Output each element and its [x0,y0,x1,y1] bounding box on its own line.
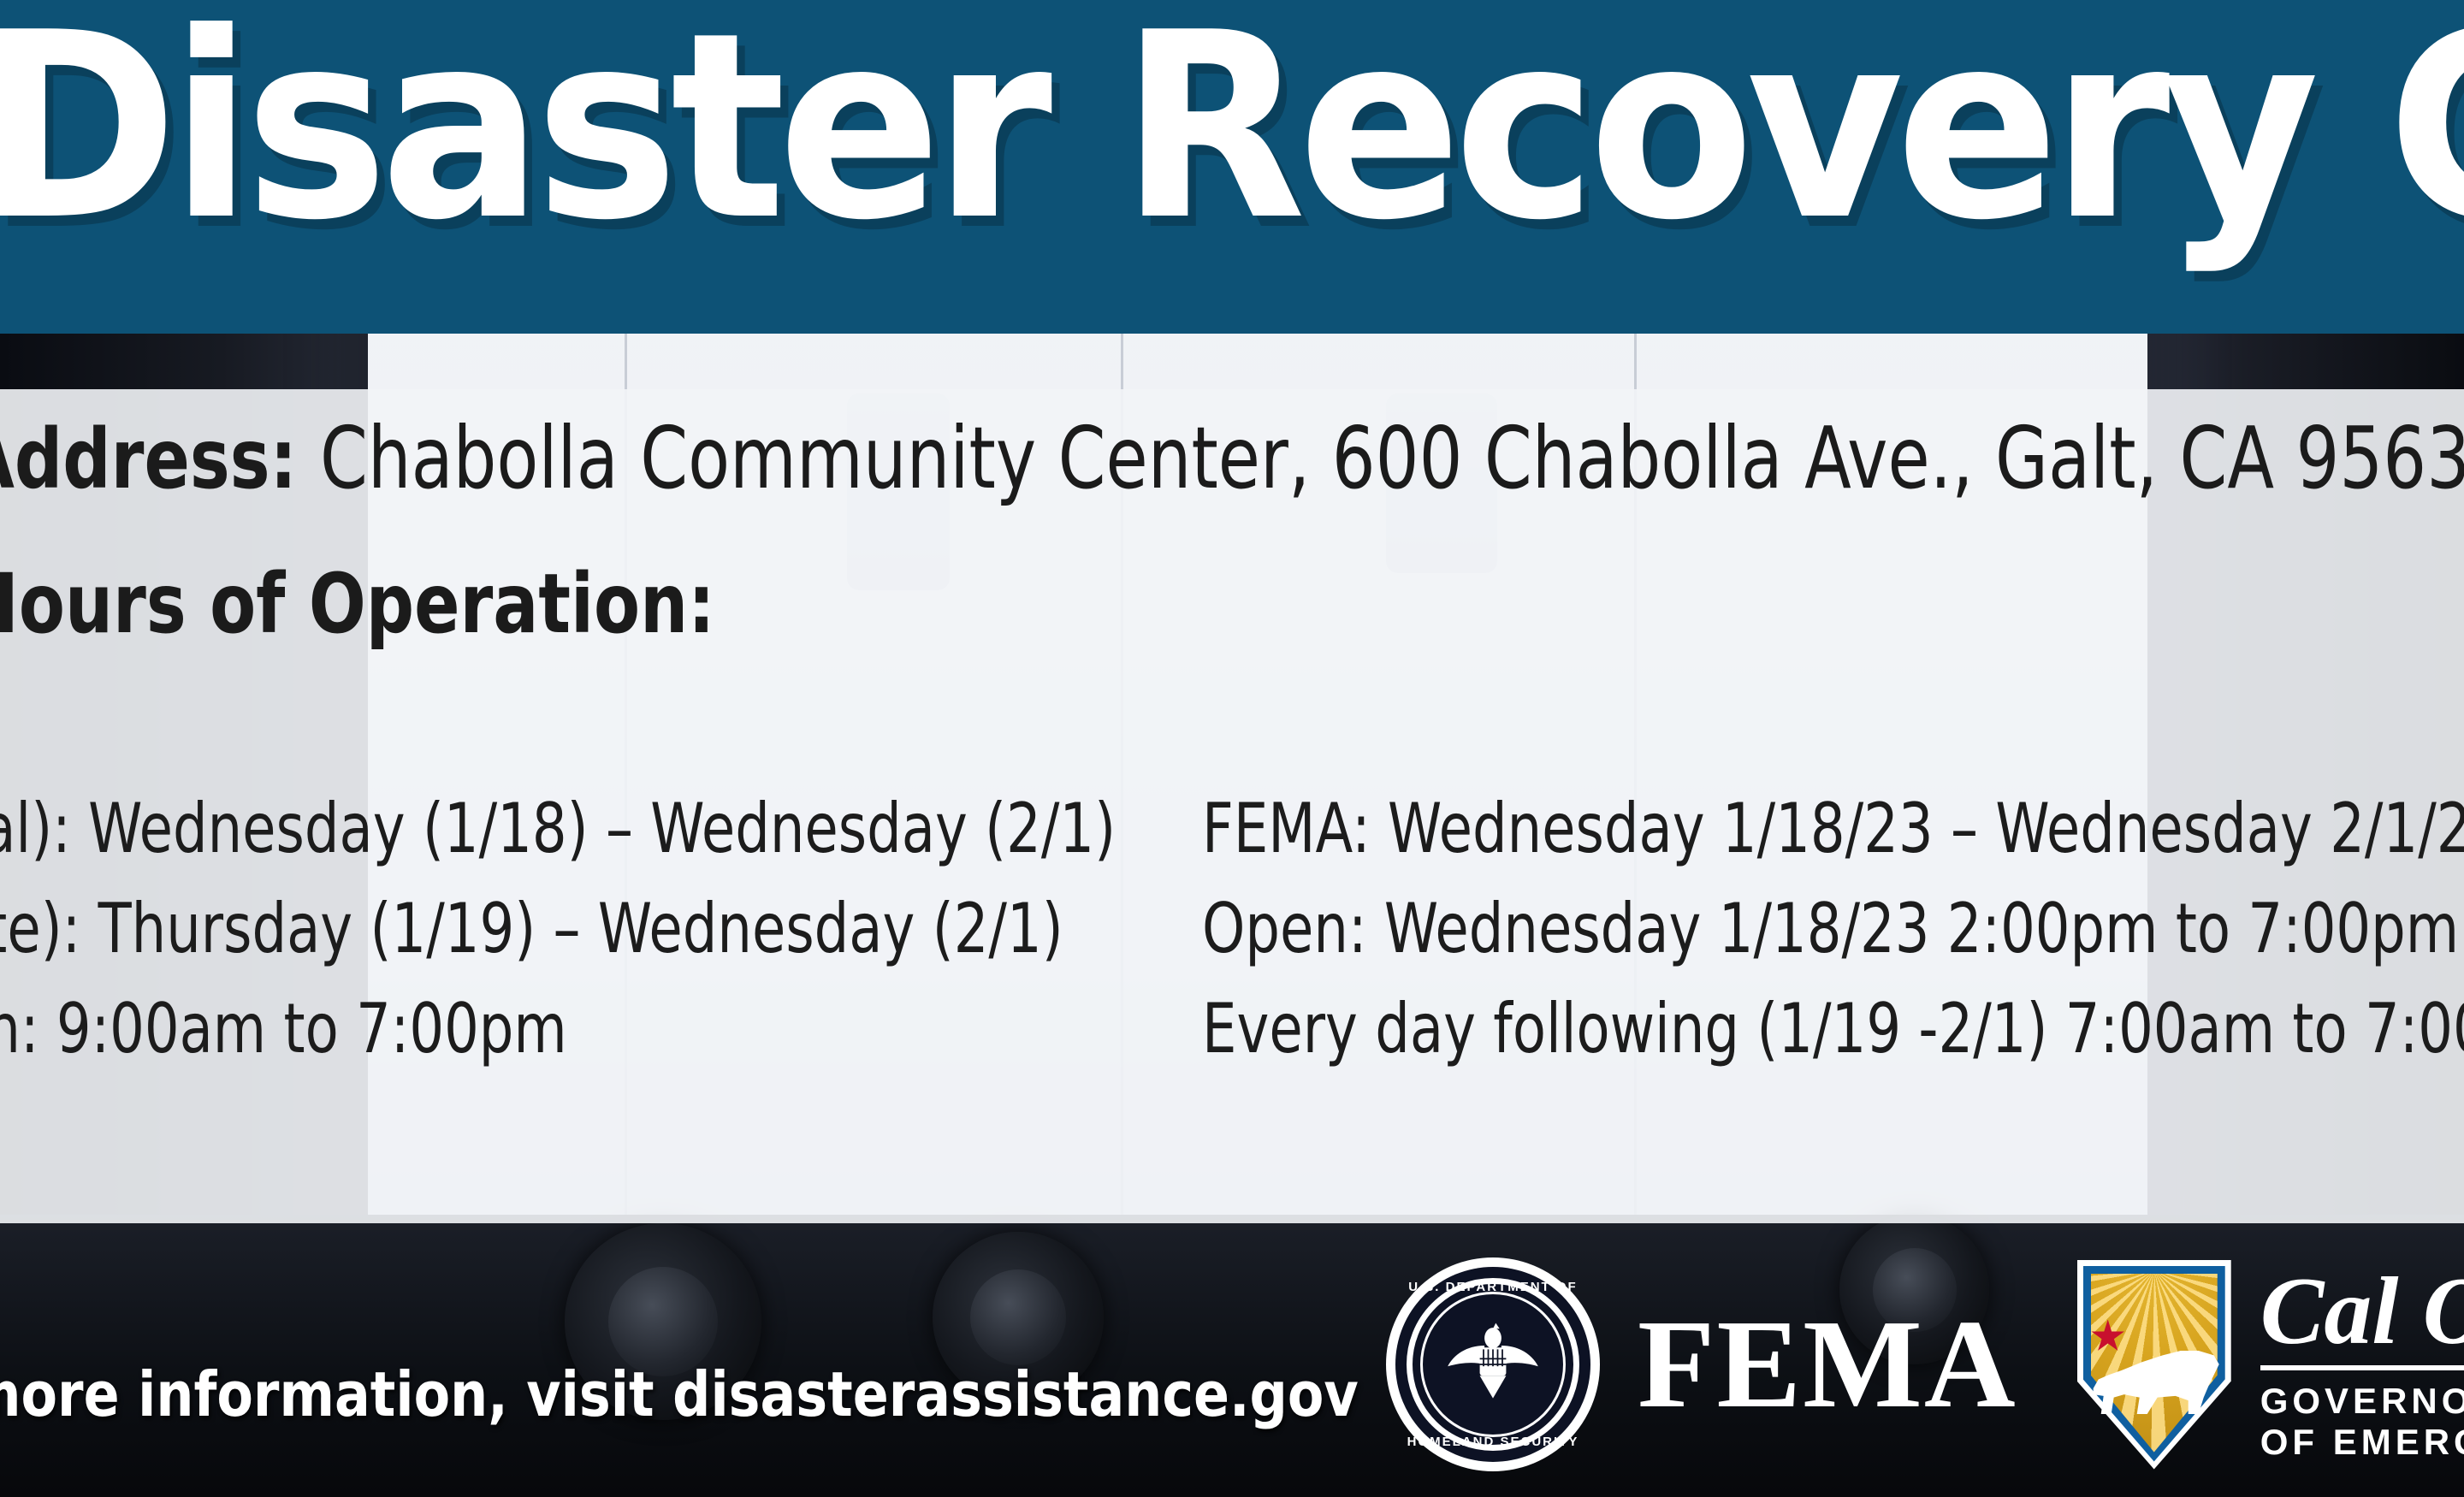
dhs-arc-top-label: U.S. DEPARTMENT OF [1386,1280,1600,1294]
dhs-arc-bottom-label: HOMELAND SECURITY [1386,1435,1600,1449]
more-information-text: more information, visit disasterassistan… [0,1358,1359,1430]
cal-oes-logo: Cal OES GOVERNOR'S OFFICE OF EMERGENCY S… [2077,1260,2464,1470]
cal-oes-text: Cal OES GOVERNOR'S OFFICE OF EMERGENCY S… [2260,1266,2464,1464]
hours-of-operation-heading: Hours of Operation: [0,556,715,652]
hours-line: cal): Wednesday (1/18) – Wednesday (2/1) [0,778,1116,879]
dhs-seal-icon: U.S. DEPARTMENT OF HOMELAND SECURITY [1386,1257,1600,1471]
address-label: Address: [0,411,299,507]
header-band: Disaster Recovery Center [0,0,2464,334]
fema-wordmark: FEMA [1638,1301,2017,1428]
disaster-recovery-center-flyer: Disaster Recovery Center Address: Chabol… [0,0,2464,1497]
cal-oes-wordmark: Cal OES [2260,1266,2464,1357]
cal-oes-subtitle-line2: OF EMERGENCY SERVICES [2260,1422,2464,1463]
cal-oes-shield-icon [2077,1260,2231,1470]
hours-line: ate): Thursday (1/19) – Wednesday (2/1) [0,879,1116,979]
eagle-icon [1446,1317,1540,1411]
cal-oes-subtitle-line1: GOVERNOR'S OFFICE [2260,1381,2464,1422]
hours-column-left: cal): Wednesday (1/18) – Wednesday (2/1)… [0,778,1407,1079]
page-title: Disaster Recovery Center [0,0,2407,294]
agency-logos: U.S. DEPARTMENT OF HOMELAND SECURITY [1386,1253,2464,1476]
hours-line: Open: Wednesday 1/18/23 2:00pm to 7:00pm [1202,879,2464,979]
hours-line: en: 9:00am to 7:00pm [0,979,1116,1079]
hours-column-right: FEMA: Wednesday 1/18/23 – Wednesday 2/1/… [1202,778,2464,1079]
info-panel: Address: Chabolla Community Center, 600 … [0,389,2464,1223]
hours-line: FEMA: Wednesday 1/18/23 – Wednesday 2/1/… [1202,778,2464,879]
address-value: Chabolla Community Center, 600 Chabolla … [320,408,2464,508]
hours-line: Every day following (1/19 -2/1) 7:00am t… [1202,979,2464,1079]
address-row: Address: Chabolla Community Center, 600 … [0,408,2464,508]
cal-oes-divider [2260,1365,2464,1370]
